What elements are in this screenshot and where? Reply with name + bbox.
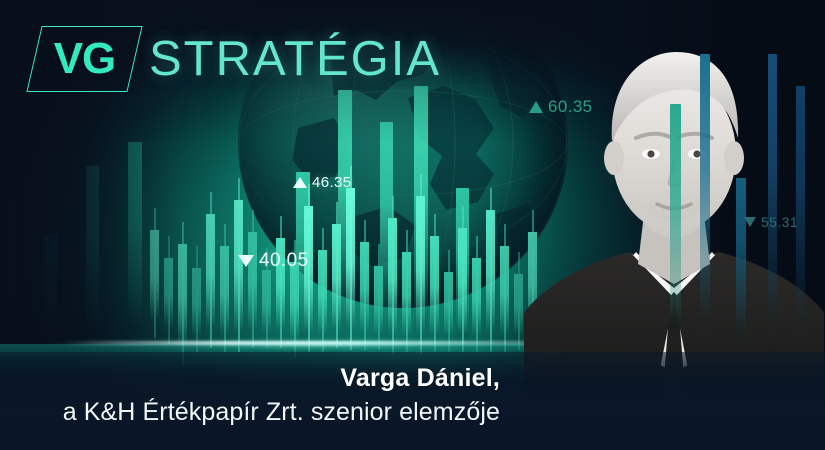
ticker-value: 55.31 (761, 215, 798, 229)
logo-mark-text: VG (34, 26, 135, 92)
ticker-down-55-31: 55.31 (744, 215, 798, 229)
ticker-up-60-35: 60.35 (529, 98, 593, 115)
triangle-up-icon (529, 101, 543, 113)
chart-bar (768, 54, 777, 354)
ticker-value: 40.05 (259, 251, 309, 270)
ticker-up-46-35: 46.35 (293, 175, 352, 190)
vg-strategia-thumbnail: Varga Dániel, a K&H Értékpapír Zrt. szen… (0, 0, 825, 450)
chart-bar (736, 178, 746, 354)
triangle-down-icon (744, 217, 756, 227)
ticker-down-40-05: 40.05 (238, 251, 309, 270)
logo-mark-box: VG (34, 26, 135, 92)
chart-bar (700, 54, 710, 354)
triangle-down-icon (238, 255, 254, 267)
ticker-value: 46.35 (312, 175, 352, 190)
analyst-name: Varga Dániel, (0, 364, 500, 393)
ticker-value: 60.35 (548, 98, 593, 115)
vg-strategia-logo: VG STRATÉGIA (34, 26, 441, 92)
analyst-role: a K&H Értékpapír Zrt. szenior elemzője (0, 398, 500, 427)
triangle-up-icon (293, 177, 307, 188)
logo-wordmark: STRATÉGIA (149, 35, 441, 84)
chart-bar (670, 104, 681, 354)
